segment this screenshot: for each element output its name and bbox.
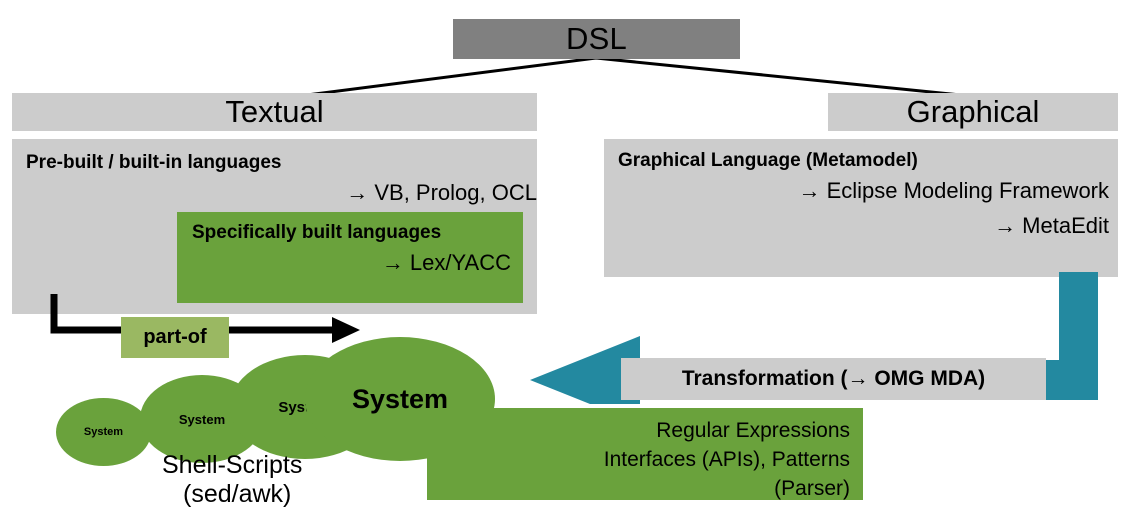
dsl-root-label: DSL [566,21,627,57]
specifically-built-languages-examples: → Lex/YACC [382,250,511,276]
system-node-1: System [56,398,151,466]
implementation-line-1: Regular Expressions [656,419,850,443]
system-node-2-label: System [179,412,225,427]
transformation-text: Transformation (→ OMG MDA) [682,367,985,391]
shell-scripts-caption-line-2: (sed/awk) [183,480,291,509]
prebuilt-languages-title: Pre-built / built-in languages [26,152,281,174]
prebuilt-languages-examples: → VB, Prolog, OCL [346,180,537,206]
part-of-label: part-of [121,317,229,358]
graphical-branch-header: Graphical [828,93,1118,131]
textual-branch-label: Textual [225,94,323,130]
implementation-line-3: (Parser) [774,477,850,501]
graphical-branch-label: Graphical [907,94,1040,130]
diagram-canvas: DSL Textual Graphical Pre-built / built-… [0,0,1134,513]
implementation-line-2: Interfaces (APIs), Patterns [604,448,850,472]
graphical-language-example-2: → MetaEdit [994,213,1109,239]
part-of-text: part-of [143,326,206,349]
system-node-1-label: System [84,426,123,438]
textual-branch-header: Textual [12,93,537,131]
transformation-label: Transformation (→ OMG MDA) [621,358,1046,400]
graphical-language-title: Graphical Language (Metamodel) [618,150,918,172]
specifically-built-languages-title: Specifically built languages [192,222,441,244]
shell-scripts-caption-line-1: Shell-Scripts [162,451,302,480]
graphical-language-example-1: → Eclipse Modeling Framework [798,178,1109,204]
dsl-root-banner: DSL [453,19,740,59]
